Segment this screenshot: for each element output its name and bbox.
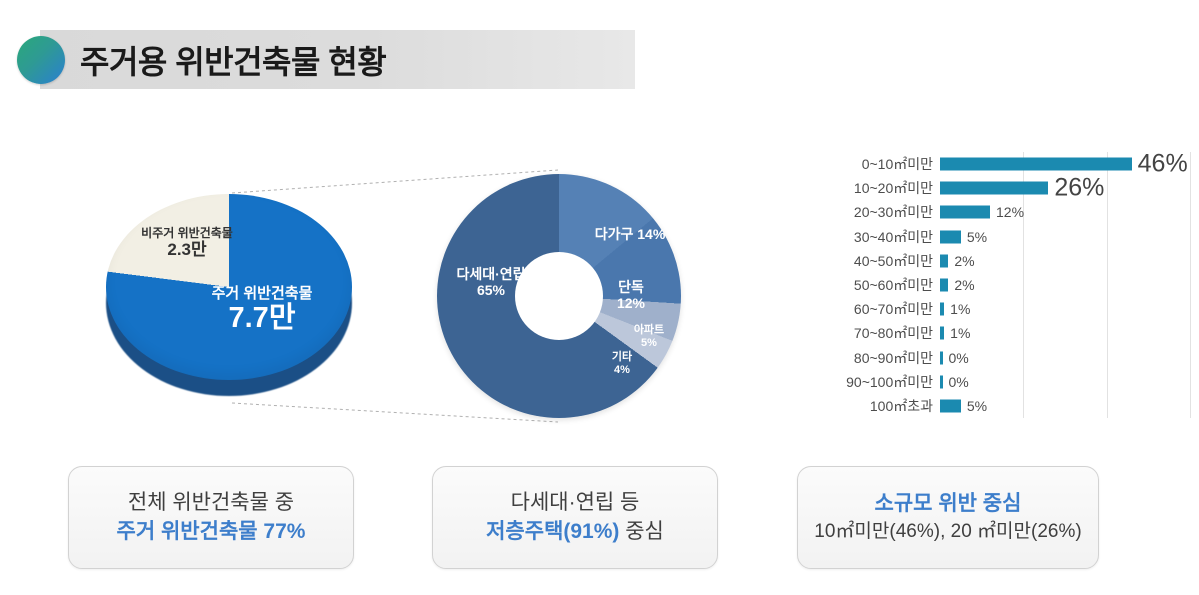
pie-label-residential: 주거 위반건축물 7.7만 (176, 286, 348, 334)
bar-fill (940, 375, 943, 388)
bar-fill (940, 158, 1132, 171)
bar-fill (940, 254, 948, 267)
bar-category-label: 90~100㎡미만 (800, 372, 940, 392)
donut-label-etc-name: 기타 (599, 351, 645, 364)
bar-value-label: 2% (954, 277, 974, 293)
donut-label-dasedae-value: 65% (439, 282, 543, 298)
summary-card-3-line1: 소규모 위반 중심 (875, 490, 1022, 519)
donut-label-dasedae: 다세대·연립 65% (439, 266, 543, 298)
donut-label-apart-value: 5% (623, 337, 675, 350)
bar-row: 0~10㎡미만46% (800, 152, 1190, 176)
pie-label-residential-name: 주거 위반건축물 (176, 286, 348, 303)
bar-track: 12% (940, 200, 1190, 224)
donut-label-dasedae-name: 다세대·연립 (439, 266, 543, 282)
donut-label-apart-name: 아파트 (623, 324, 675, 337)
gridline (1190, 152, 1191, 418)
housing-type-donut-chart: 다세대·연립 65% 다가구 14% 단독 12% 아파트 5% 기타 4% (437, 174, 681, 418)
violation-area-bar-chart: 0~10㎡미만46%10~20㎡미만26%20~30㎡미만12%30~40㎡미만… (800, 152, 1190, 418)
bar-chart-rows: 0~10㎡미만46%10~20㎡미만26%20~30㎡미만12%30~40㎡미만… (800, 152, 1190, 418)
bar-fill (940, 206, 990, 219)
summary-card-2-line2: 저층주택(91%) 중심 (486, 518, 664, 547)
summary-card-2-line2-highlight: 저층주택(91%) (486, 520, 619, 543)
bar-row: 90~100㎡미만0% (800, 370, 1190, 394)
bar-row: 70~80㎡미만1% (800, 321, 1190, 345)
bar-track: 2% (940, 249, 1190, 273)
donut-label-apart: 아파트 5% (623, 324, 675, 349)
summary-card-1-line2: 주거 위반건축물 77% (117, 518, 306, 547)
pie-label-residential-value: 7.7만 (176, 303, 348, 335)
summary-card-1-line1: 전체 위반건축물 중 (128, 489, 294, 518)
bar-fill (940, 399, 961, 412)
bar-track: 1% (940, 321, 1190, 345)
bar-category-label: 20~30㎡미만 (800, 202, 940, 222)
bar-track: 26% (940, 176, 1190, 200)
residential-violation-pie-chart: 비주거 위반건축물 2.3만 주거 위반건축물 7.7만 (100, 182, 360, 407)
bar-category-label: 100㎡초과 (800, 396, 940, 416)
bar-value-label: 1% (950, 301, 970, 317)
bar-value-label: 0% (949, 374, 969, 390)
donut-label-dagagu: 다가구 14% (587, 226, 673, 242)
summary-card-3: 소규모 위반 중심 10㎡미만(46%), 20 ㎡미만(26%) (797, 466, 1099, 569)
bar-track: 46% (940, 152, 1190, 176)
bar-value-label: 46% (1138, 150, 1188, 179)
bar-category-label: 80~90㎡미만 (800, 348, 940, 368)
bar-category-label: 0~10㎡미만 (800, 154, 940, 174)
bar-fill (940, 351, 943, 364)
pie-label-nonresidential-value: 2.3만 (122, 240, 252, 260)
bar-value-label: 5% (967, 398, 987, 414)
donut-label-etc: 기타 4% (599, 351, 645, 375)
bar-track: 5% (940, 225, 1190, 249)
bar-track: 5% (940, 394, 1190, 418)
page-title: 주거용 위반건축물 현황 (80, 37, 386, 83)
donut-label-danok-name: 단독 (603, 279, 659, 295)
bar-track: 0% (940, 370, 1190, 394)
bar-value-label: 2% (954, 253, 974, 269)
bar-track: 1% (940, 297, 1190, 321)
bar-category-label: 30~40㎡미만 (800, 227, 940, 247)
summary-card-2-line1: 다세대·연립 등 (511, 489, 640, 518)
bar-row: 20~30㎡미만12% (800, 200, 1190, 224)
bar-row: 80~90㎡미만0% (800, 346, 1190, 370)
summary-card-3-line2: 10㎡미만(46%), 20 ㎡미만(26%) (814, 519, 1081, 545)
bar-row: 50~60㎡미만2% (800, 273, 1190, 297)
bar-category-label: 70~80㎡미만 (800, 323, 940, 343)
bar-category-label: 40~50㎡미만 (800, 251, 940, 271)
bar-row: 40~50㎡미만2% (800, 249, 1190, 273)
bar-row: 10~20㎡미만26% (800, 176, 1190, 200)
bar-category-label: 10~20㎡미만 (800, 178, 940, 198)
bar-value-label: 1% (950, 325, 970, 341)
summary-card-2: 다세대·연립 등 저층주택(91%) 중심 (432, 466, 718, 569)
bar-value-label: 26% (1054, 174, 1104, 203)
summary-card-2-line2-rest: 중심 (619, 520, 663, 543)
bar-fill (940, 327, 944, 340)
summary-card-1: 전체 위반건축물 중 주거 위반건축물 77% (68, 466, 354, 569)
bar-value-label: 5% (967, 229, 987, 245)
bar-track: 0% (940, 346, 1190, 370)
pie-label-nonresidential-name: 비주거 위반건축물 (122, 226, 252, 240)
bar-fill (940, 182, 1048, 195)
bar-value-label: 12% (996, 204, 1024, 220)
bar-fill (940, 230, 961, 243)
pie-label-nonresidential: 비주거 위반건축물 2.3만 (122, 226, 252, 260)
bar-row: 60~70㎡미만1% (800, 297, 1190, 321)
donut-label-danok: 단독 12% (603, 279, 659, 311)
donut-label-etc-value: 4% (599, 364, 645, 375)
bar-category-label: 50~60㎡미만 (800, 275, 940, 295)
gradient-circle-icon (17, 36, 65, 84)
bar-category-label: 60~70㎡미만 (800, 299, 940, 319)
bar-fill (940, 279, 948, 292)
bar-fill (940, 303, 944, 316)
bar-value-label: 0% (949, 350, 969, 366)
bar-track: 2% (940, 273, 1190, 297)
bar-row: 30~40㎡미만5% (800, 225, 1190, 249)
bar-row: 100㎡초과5% (800, 394, 1190, 418)
donut-label-danok-value: 12% (603, 295, 659, 311)
